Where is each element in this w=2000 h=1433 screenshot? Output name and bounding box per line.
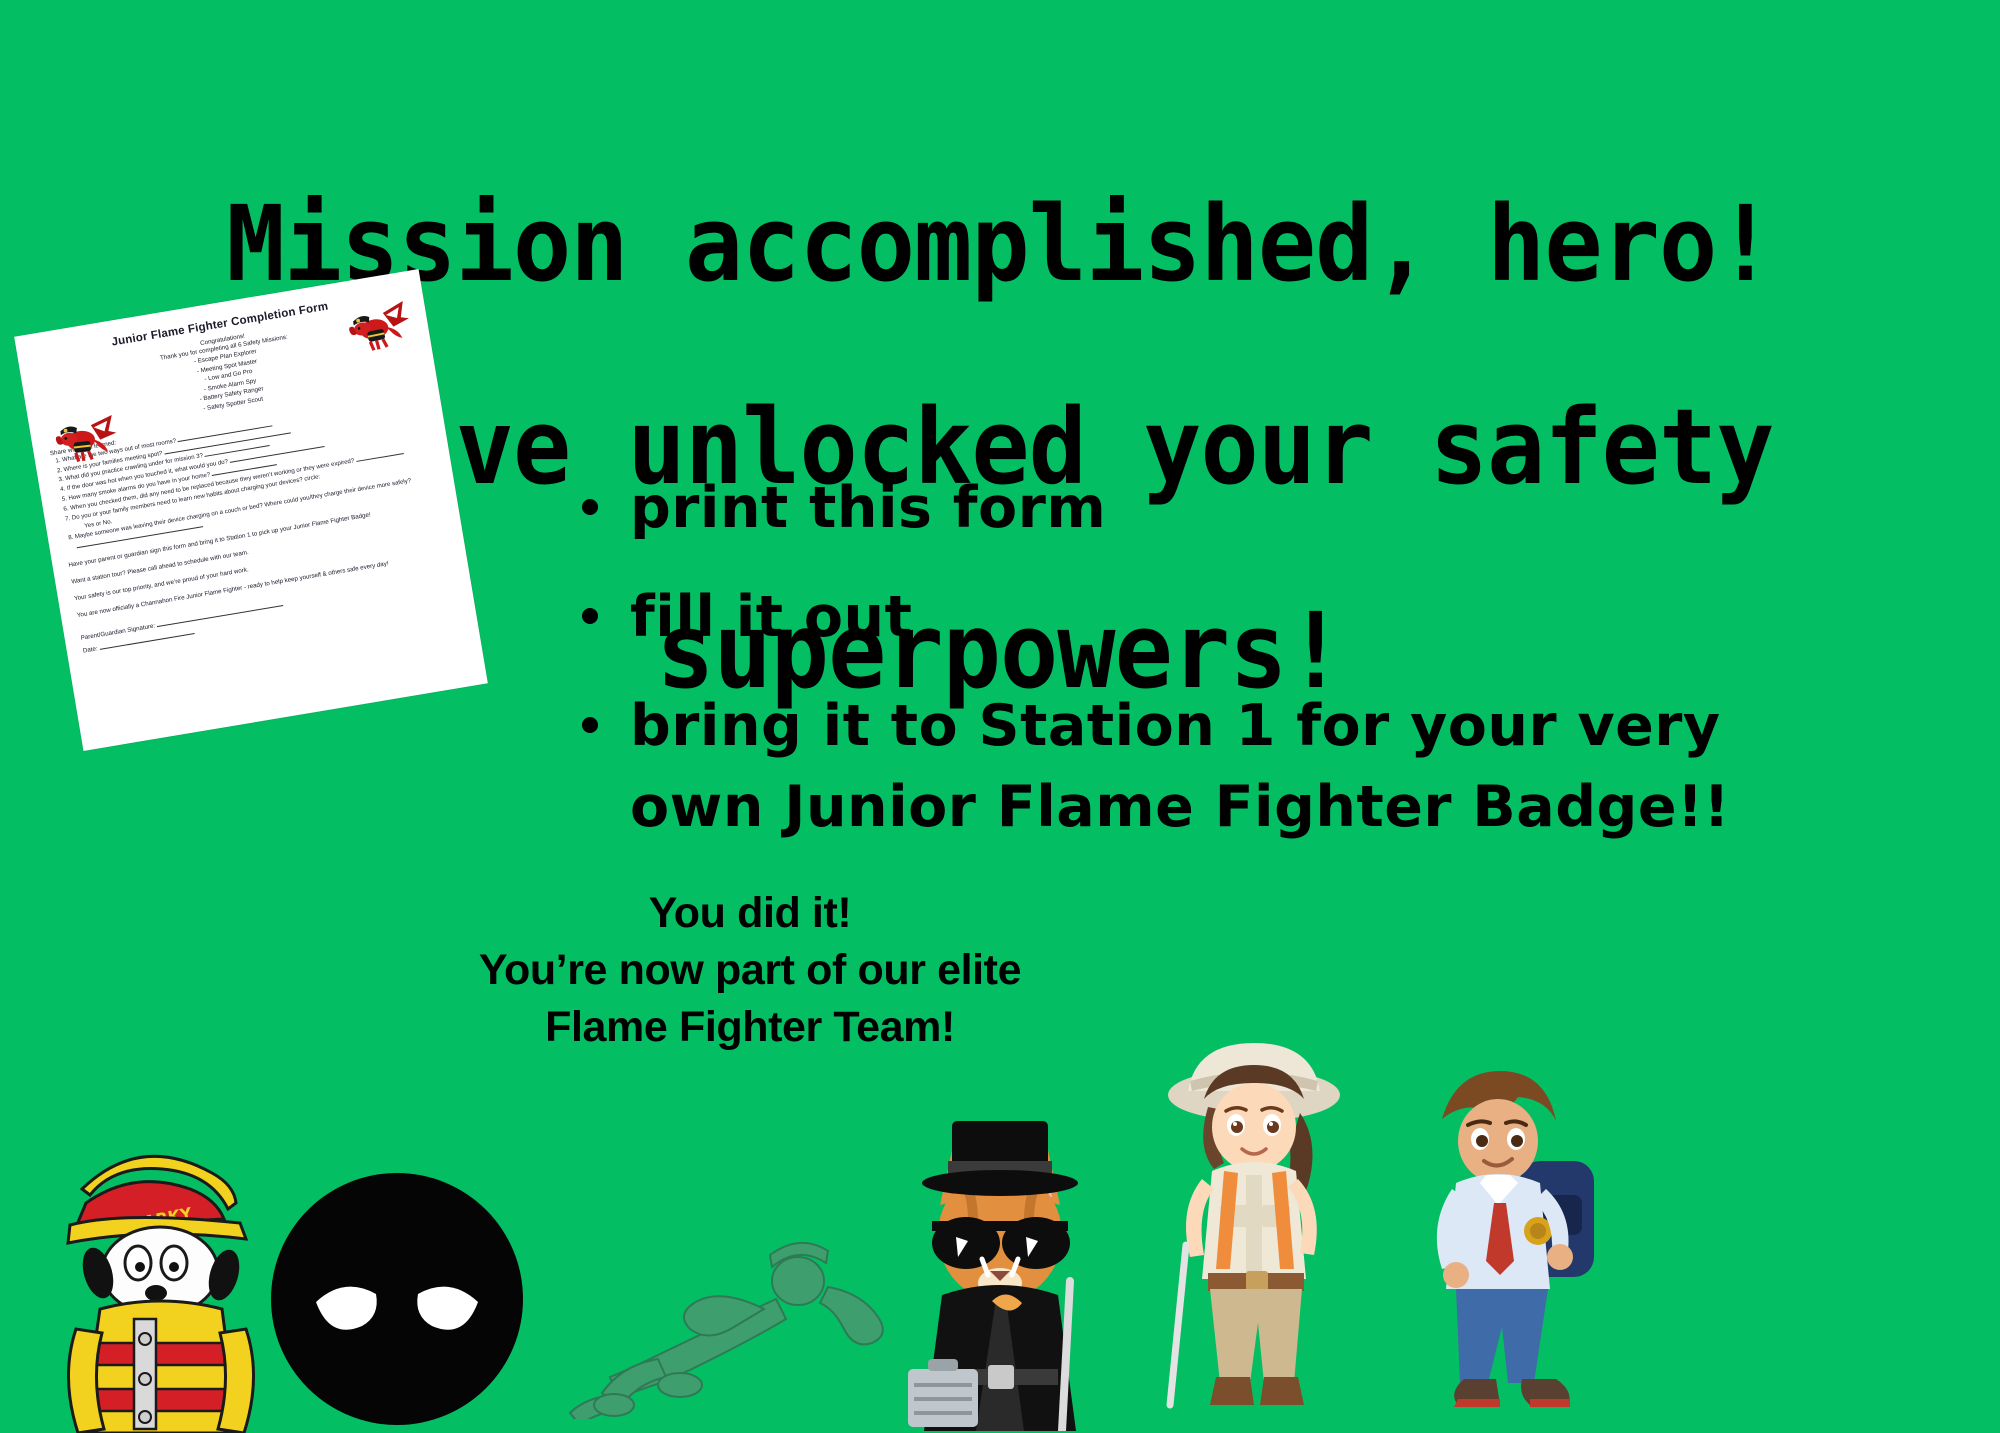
sparky-fire-dog-icon: SPARKY — [40, 1103, 300, 1433]
completion-form-document: Junior Flame Fighter Completion Form Con… — [14, 269, 488, 751]
congrats-line-3: Flame Fighter Team! — [400, 999, 1100, 1056]
step-item-fill-out: fill it out — [576, 577, 1856, 658]
instruction-steps-list: print this form fill it out bring it to … — [576, 468, 1856, 876]
step-item-print-form: print this form — [576, 468, 1856, 549]
ninja-icon — [270, 1172, 525, 1427]
step-item-bring-to-station: bring it to Station 1 for your very own … — [576, 686, 1856, 848]
green-army-man-icon — [540, 1209, 900, 1419]
congratulations-message: You did it! You’re now part of our elite… — [400, 885, 1100, 1057]
detective-cat-icon — [870, 1101, 1130, 1431]
congrats-line-2: You’re now part of our elite — [400, 942, 1100, 999]
dragon-mascot-icon — [52, 410, 124, 475]
explorer-girl-icon — [1130, 1029, 1380, 1429]
school-boy-icon — [1370, 1049, 1620, 1429]
congrats-line-1: You did it! — [400, 885, 1100, 942]
date-label: Date: — [82, 645, 98, 654]
